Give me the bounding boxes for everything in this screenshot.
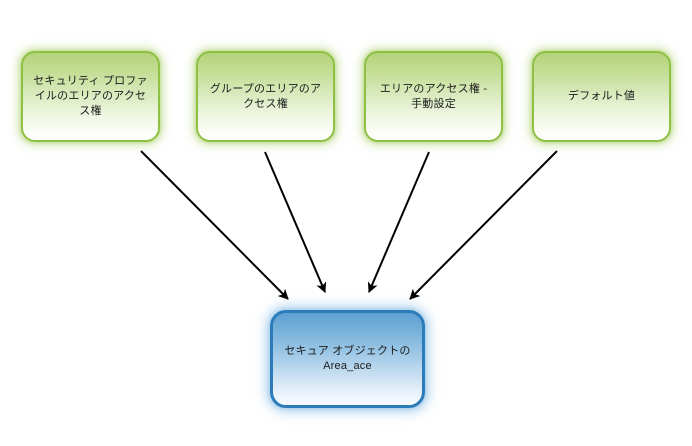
node-label-default-value: デフォルト値 — [568, 89, 635, 104]
node-secure-object-area-ace[interactable]: セキュア オブジェクトの Area_ace — [270, 310, 425, 408]
edge-default-to-area-ace — [410, 151, 557, 299]
edge-group-to-area-ace — [265, 152, 325, 292]
edge-manual-to-area-ace — [369, 152, 429, 292]
node-label-secure-object-area-ace: セキュア オブジェクトの Area_ace — [284, 344, 410, 374]
node-default-value[interactable]: デフォルト値 — [532, 51, 671, 142]
node-group-area-access[interactable]: グループのエリアのアクセス権 — [196, 51, 335, 142]
node-label-area-access-manual: エリアのアクセス権 - 手動設定 — [375, 82, 492, 112]
diagram-canvas: セキュリティ プロファイルのエリアのアクセス権 グループのエリアのアクセス権 エ… — [0, 0, 692, 446]
node-label-group-area-access: グループのエリアのアクセス権 — [207, 82, 324, 112]
node-security-profile-area-access[interactable]: セキュリティ プロファイルのエリアのアクセス権 — [21, 51, 160, 142]
node-area-access-manual[interactable]: エリアのアクセス権 - 手動設定 — [364, 51, 503, 142]
edge-security-profile-to-area-ace — [141, 151, 288, 299]
node-label-security-profile-area-access: セキュリティ プロファイルのエリアのアクセス権 — [32, 74, 149, 119]
